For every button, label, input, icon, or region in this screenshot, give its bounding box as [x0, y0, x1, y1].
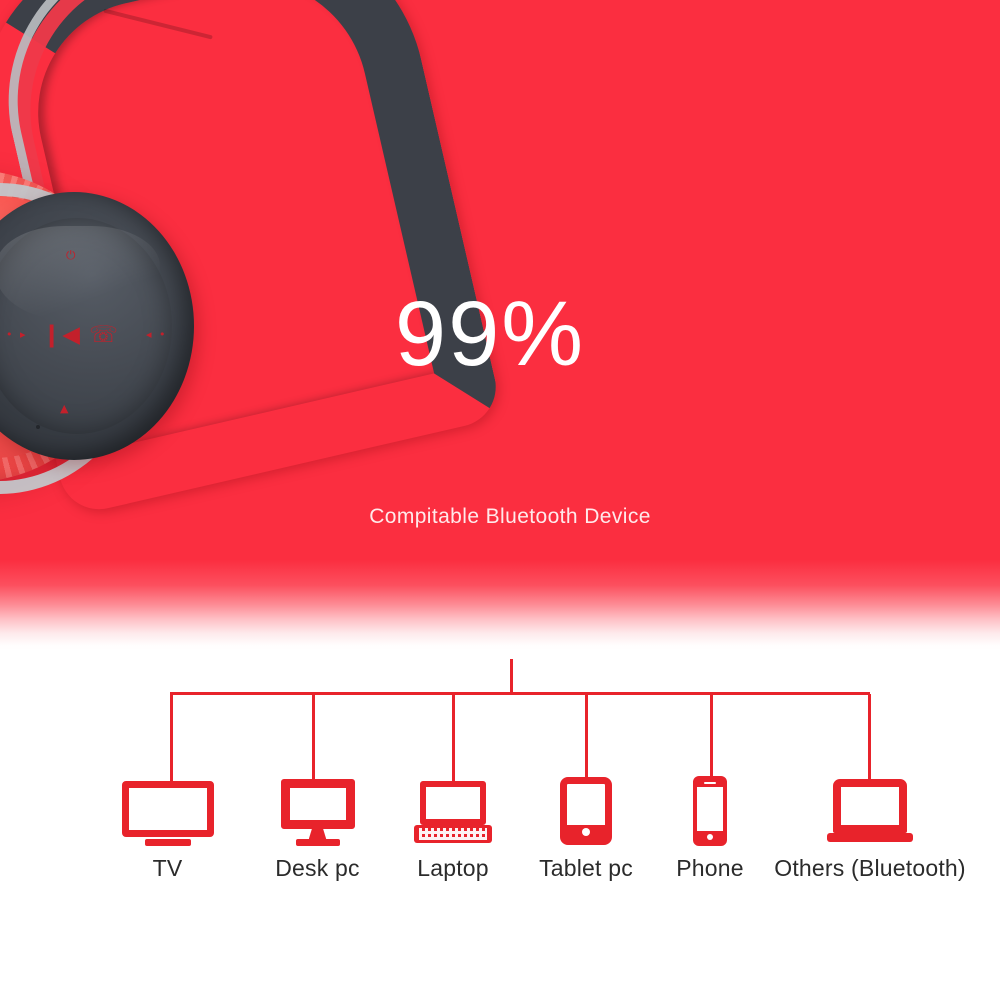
power-glyph-icon: ⏻ — [66, 248, 76, 263]
device-item-tablet[interactable]: Tablet pc — [527, 775, 645, 882]
compatibility-percent: 99% — [0, 288, 1000, 380]
headphones-product-image: ⏻ • ▸ ❙◀ ☏ ◂ • ▲ — [0, 0, 390, 550]
hero-panel: ⏻ • ▸ ❙◀ ☏ ◂ • ▲ 99% Compitable Bluetoot… — [0, 0, 1000, 650]
compatibility-percent-value: 99% — [395, 288, 585, 380]
device-compatibility-tree: TV Desk pc Laptop Tablet pc — [0, 650, 1000, 1000]
device-label-others: Others (Bluetooth) — [765, 855, 975, 882]
tree-drop-deskpc — [312, 694, 315, 782]
notebook-icon — [827, 775, 913, 847]
device-label-deskpc: Desk pc — [255, 855, 380, 882]
mic-glyph-icon: ▲ — [60, 402, 68, 415]
laptop-icon — [414, 775, 492, 847]
device-item-tv[interactable]: TV — [105, 775, 230, 882]
tree-bus-line — [170, 692, 870, 695]
hero-tagline-text: Compitable Bluetooth Device — [369, 505, 651, 529]
hero-tagline: Compitable Bluetooth Device — [0, 505, 1000, 529]
smartphone-icon — [693, 775, 727, 847]
device-item-laptop[interactable]: Laptop — [392, 775, 514, 882]
tree-drop-laptop — [452, 694, 455, 782]
microphone-hole-icon — [36, 425, 40, 429]
tree-drop-phone — [710, 694, 713, 782]
device-label-tablet: Tablet pc — [527, 855, 645, 882]
tv-icon — [122, 775, 214, 847]
product-infographic: ⏻ • ▸ ❙◀ ☏ ◂ • ▲ 99% Compitable Bluetoot… — [0, 0, 1000, 1000]
device-item-deskpc[interactable]: Desk pc — [255, 775, 380, 882]
device-item-others[interactable]: Others (Bluetooth) — [765, 775, 975, 882]
tablet-icon — [560, 775, 612, 847]
desktop-monitor-icon — [281, 775, 355, 847]
device-item-phone[interactable]: Phone — [655, 775, 765, 882]
tree-drop-others — [868, 694, 871, 782]
tree-drop-tablet — [585, 694, 588, 782]
device-label-tv: TV — [105, 855, 230, 882]
tree-drop-tv — [170, 694, 173, 782]
device-label-laptop: Laptop — [392, 855, 514, 882]
device-label-phone: Phone — [655, 855, 765, 882]
tree-stem — [510, 659, 513, 694]
